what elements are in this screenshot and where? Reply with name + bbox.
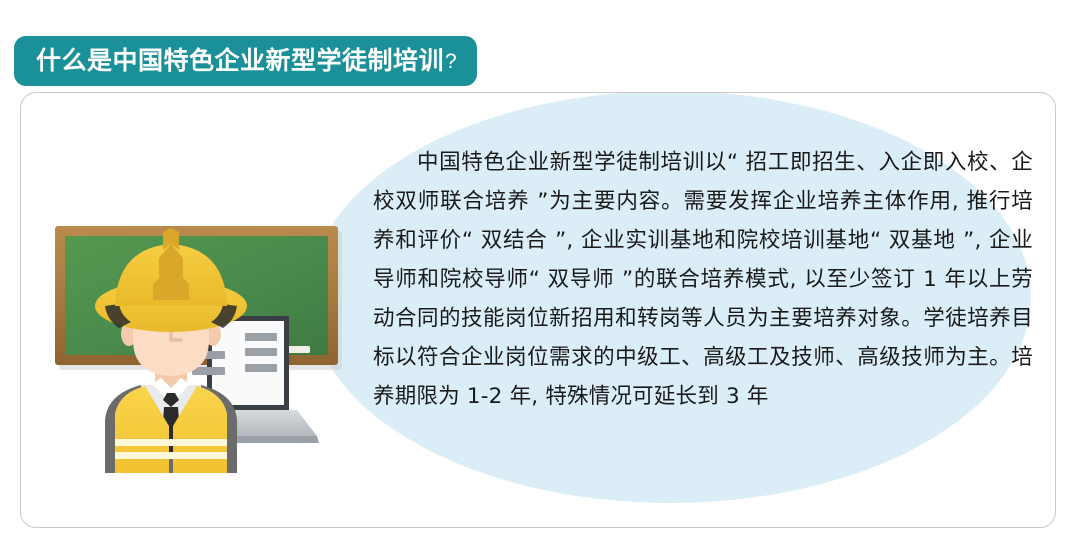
chalk-icon <box>286 346 310 353</box>
page-title-question-mark: ? <box>445 51 457 72</box>
section-header-pill: 什么是中国特色企业新型学徒制培训 ? <box>14 36 477 86</box>
vest-stripe <box>115 439 227 446</box>
screen-bar <box>245 348 277 356</box>
page-root: 什么是中国特色企业新型学徒制培训 ? <box>0 0 1080 558</box>
illustration-worker-chalkboard <box>49 188 349 473</box>
page-title: 什么是中国特色企业新型学徒制培训 <box>36 49 444 74</box>
screen-bar <box>245 364 277 372</box>
vest-stripe <box>115 452 227 459</box>
screen-bar <box>245 333 277 341</box>
content-card: 中国特色企业新型学徒制培训以“ 招工即招生、入企即入校、企校双师联合培养 ”为主… <box>20 92 1056 528</box>
body-paragraph: 中国特色企业新型学徒制培训以“ 招工即招生、入企即入校、企校双师联合培养 ”为主… <box>373 143 1033 416</box>
screen-bar <box>192 367 225 375</box>
